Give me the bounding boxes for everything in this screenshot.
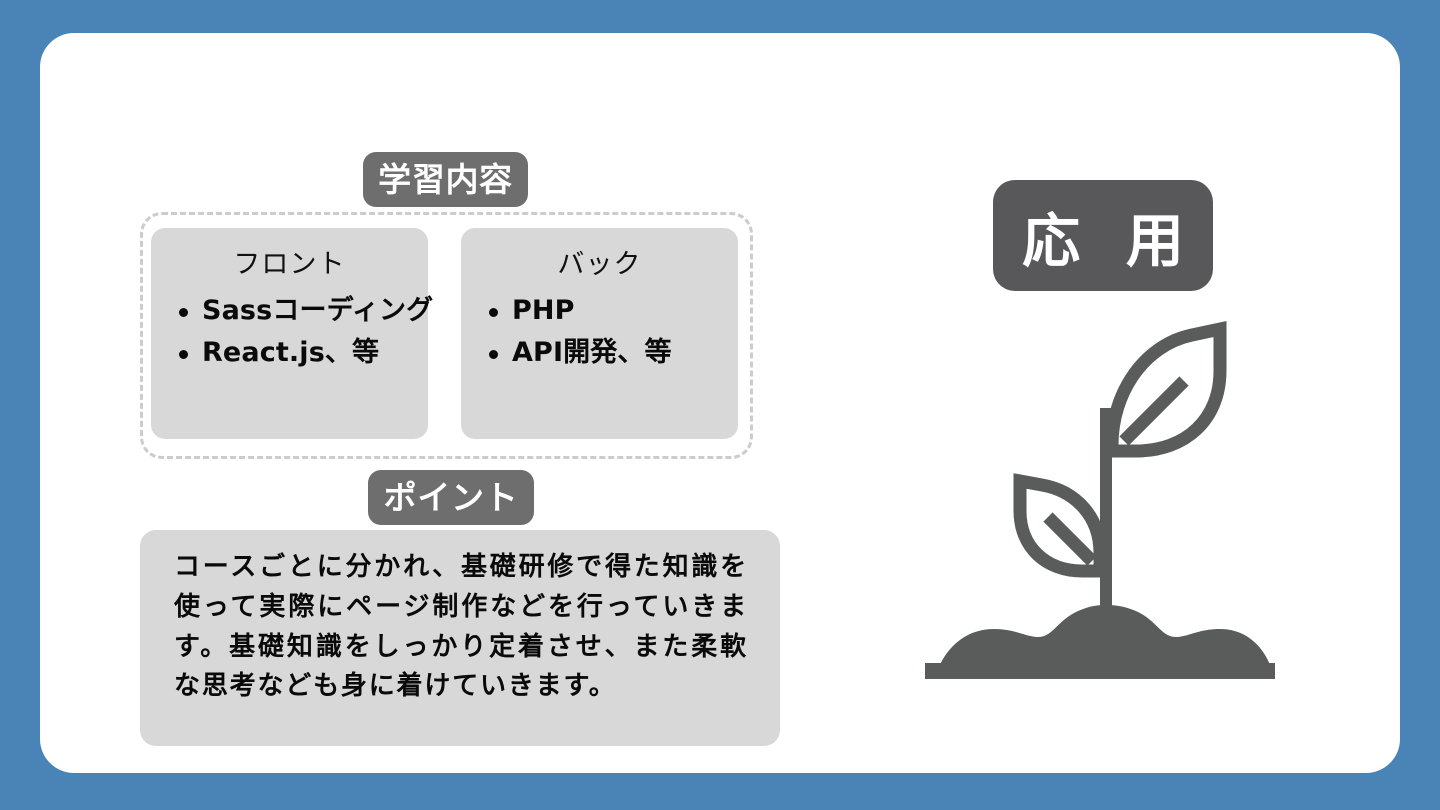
learning-section-badge: 学習内容 xyxy=(363,152,528,207)
point-body-panel: コースごとに分かれ、基礎研修で得た知識を使って実際にページ制作などを行っていきま… xyxy=(140,530,780,746)
learning-column-front-list: Sassコーディング React.js、等 xyxy=(175,290,418,374)
learning-column-back: バック PHP API開発、等 xyxy=(461,228,738,439)
list-item: API開発、等 xyxy=(485,332,728,374)
point-section-badge: ポイント xyxy=(368,470,534,525)
point-body-text: コースごとに分かれ、基礎研修で得た知識を使って実際にページ制作などを行っていきま… xyxy=(174,548,748,707)
list-item: Sassコーディング xyxy=(175,290,418,332)
sprout-plant-icon xyxy=(920,313,1280,693)
slide-root: 学習内容 フロント Sassコーディング React.js、等 バック PHP … xyxy=(0,0,1440,810)
slide-card: 学習内容 フロント Sassコーディング React.js、等 バック PHP … xyxy=(40,33,1400,773)
learning-column-back-title: バック xyxy=(461,242,738,281)
list-item: React.js、等 xyxy=(175,332,418,374)
list-item: PHP xyxy=(485,290,728,332)
level-badge-applied: 応 用 xyxy=(993,180,1213,291)
learning-column-front-title: フロント xyxy=(151,242,428,281)
learning-column-front: フロント Sassコーディング React.js、等 xyxy=(151,228,428,439)
learning-column-back-list: PHP API開発、等 xyxy=(485,290,728,374)
